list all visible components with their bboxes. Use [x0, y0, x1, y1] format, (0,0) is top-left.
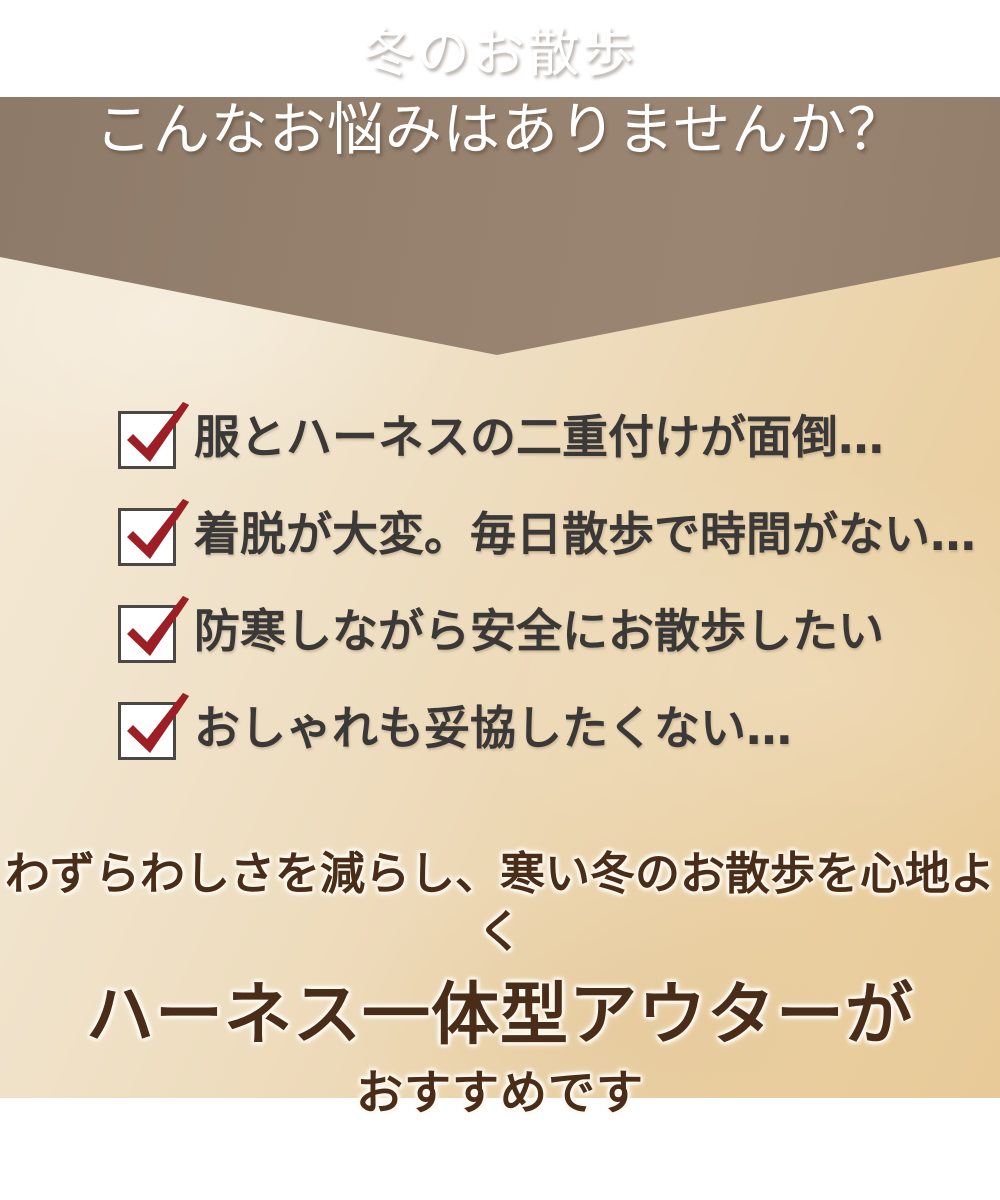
header-banner-text: 冬のお散歩 こんなお悩みはありませんか？ [0, 0, 1000, 159]
checklist-item-label: 防寒しながら安全にお散歩したい [194, 599, 884, 663]
checkbox-checked[interactable] [118, 702, 176, 760]
promo-page: 冬のお散歩 こんなお悩みはありませんか？ 服とハーネスの二重付けが面倒… 着脱が… [0, 0, 1000, 1200]
checkbox-checked[interactable] [118, 605, 176, 663]
closing-line-1: わずらわしさを減らし、寒い冬のお散歩を心地よく [0, 845, 1000, 961]
checklist-item-label: おしゃれも妥協したくない… [194, 696, 792, 760]
pain-point-checklist: 服とハーネスの二重付けが面倒… 着脱が大変。毎日散歩で時間がない… 防寒しながら… [118, 405, 948, 793]
checkmark-icon [117, 495, 203, 575]
checklist-row: 服とハーネスの二重付けが面倒… [118, 405, 948, 502]
checklist-row: 防寒しながら安全にお散歩したい [118, 599, 948, 696]
checkmark-icon [117, 398, 203, 478]
checkbox-checked[interactable] [118, 411, 176, 469]
checklist-row: 着脱が大変。毎日散歩で時間がない… [118, 502, 948, 599]
checklist-item-label: 服とハーネスの二重付けが面倒… [194, 405, 884, 469]
banner-title-line-1: 冬のお散歩 [0, 0, 1000, 80]
closing-message: わずらわしさを減らし、寒い冬のお散歩を心地よく ハーネス一体型アウターが おすす… [0, 845, 1000, 1125]
checkmark-icon [117, 592, 203, 672]
checklist-row: おしゃれも妥協したくない… [118, 696, 948, 793]
banner-title-line-2: こんなお悩みはありませんか？ [0, 80, 1000, 159]
checkbox-checked[interactable] [118, 508, 176, 566]
closing-line-2-product: ハーネス一体型アウターが [0, 961, 1000, 1063]
checkmark-icon [117, 689, 203, 769]
closing-line-3: おすすめです [0, 1063, 1000, 1125]
checklist-item-label: 着脱が大変。毎日散歩で時間がない… [194, 502, 976, 566]
